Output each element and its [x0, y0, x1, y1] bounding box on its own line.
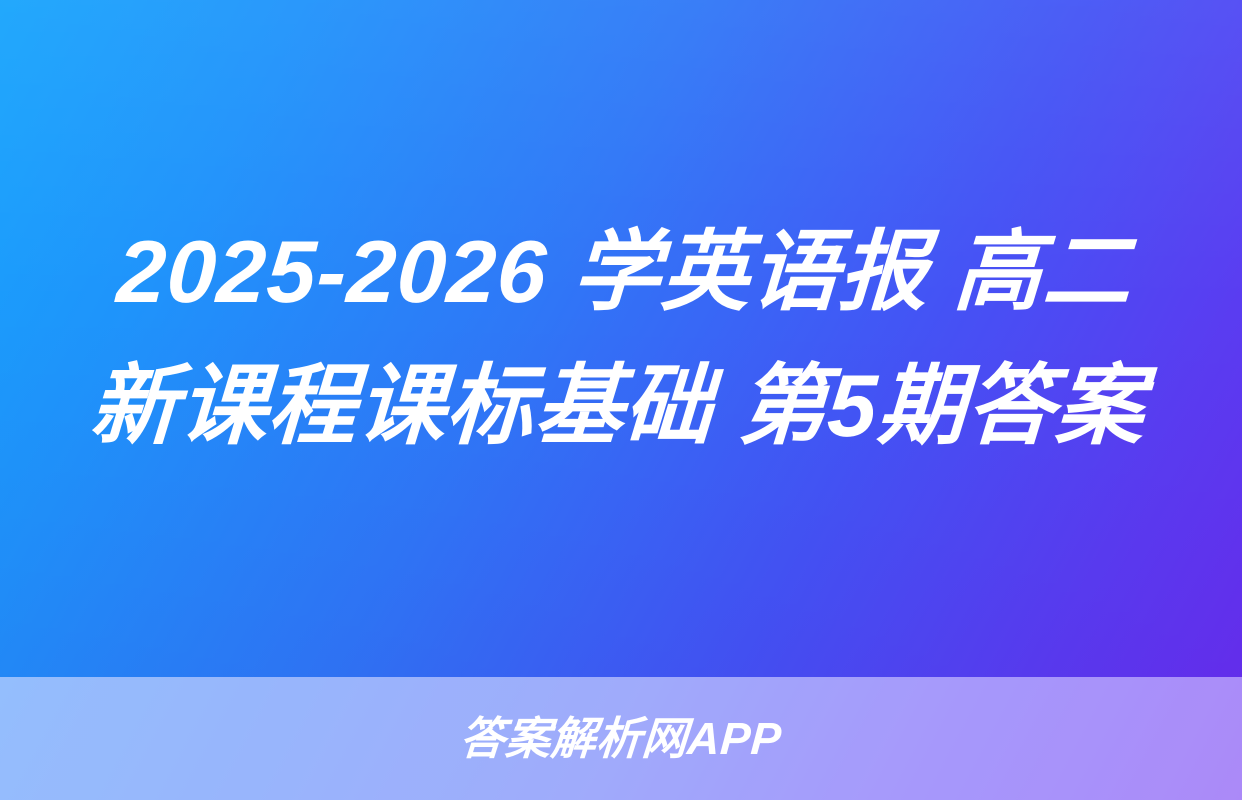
app-watermark-label: 答案解析网APP	[459, 716, 784, 761]
poster-canvas: 2025-2026 学英语报 高二 新课程课标基础 第5期答案 答案解析网APP	[0, 0, 1242, 800]
page-title: 2025-2026 学英语报 高二 新课程课标基础 第5期答案	[59, 205, 1183, 473]
footer-watermark-band: 答案解析网APP	[0, 677, 1242, 800]
title-area: 2025-2026 学英语报 高二 新课程课标基础 第5期答案	[0, 0, 1242, 677]
